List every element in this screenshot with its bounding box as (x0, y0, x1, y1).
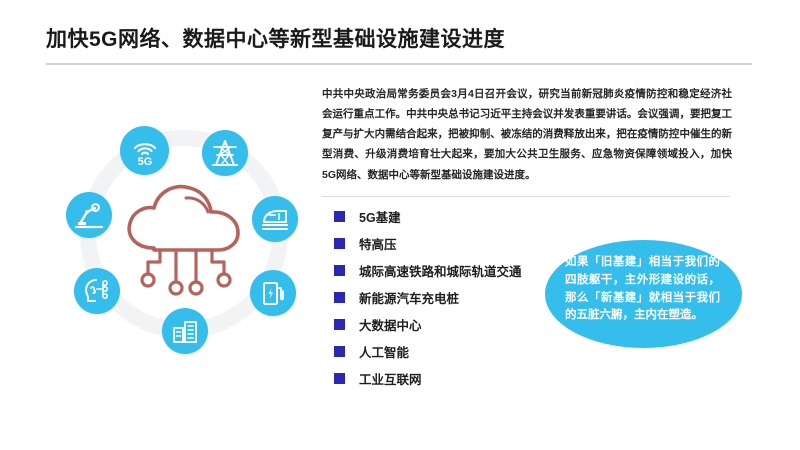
title-divider (46, 63, 752, 65)
list-item-label: 特高压 (359, 234, 397, 253)
content-column: 中共中央政治局常务委员会3月4日召开会议，研究当前新冠肺炎疫情防控和稳定经济社会… (322, 84, 732, 185)
list-item-label: 新能源汽车充电桩 (359, 288, 459, 307)
title-block: 加快5G网络、数据中心等新型基础设施建设进度 (46, 27, 746, 53)
bullet-square-icon (334, 319, 345, 330)
speech-bubble-callout: 如果「旧基建」相当于我们的四肢躯干，主外形建设的话，那么「新基建」就相当于我们的… (545, 240, 742, 348)
bullet-square-icon (334, 346, 345, 357)
bullet-square-icon (334, 373, 345, 384)
list-item-label: 大数据中心 (359, 315, 422, 334)
power-tower-icon (202, 130, 248, 176)
list-item-label: 工业互联网 (359, 369, 422, 388)
cloud-circuit-icon (114, 170, 254, 300)
bullet-square-icon (334, 238, 345, 249)
train-icon (252, 196, 298, 242)
page-title: 加快5G网络、数据中心等新型基础设施建设进度 (46, 27, 746, 53)
list-item-label: 人工智能 (359, 342, 409, 361)
list-item-label: 城际高速铁路和城际轨道交通 (359, 261, 522, 280)
bullet-square-icon (334, 265, 345, 276)
ai-brain-icon (74, 268, 120, 314)
list-item[interactable]: 5G基建 (334, 203, 634, 230)
bullet-square-icon (334, 292, 345, 303)
5g-icon: 5G (120, 126, 169, 175)
svg-text:5G: 5G (137, 156, 152, 168)
charging-station-icon (250, 270, 296, 316)
list-item[interactable]: 工业互联网 (334, 365, 634, 392)
body-paragraph: 中共中央政治局常务委员会3月4日召开会议，研究当前新冠肺炎疫情防控和稳定经济社会… (322, 84, 732, 185)
bullet-square-icon (334, 211, 345, 222)
data-center-icon (162, 308, 208, 354)
robot-arm-icon (66, 192, 112, 238)
paragraph-divider (322, 196, 730, 197)
slide-canvas: 加快5G网络、数据中心等新型基础设施建设进度 (0, 0, 800, 450)
infrastructure-illustration: 5G (52, 108, 314, 368)
list-item-label: 5G基建 (359, 207, 401, 226)
speech-bubble-text: 如果「旧基建」相当于我们的四肢躯干，主外形建设的话，那么「新基建」就相当于我们的… (565, 254, 720, 325)
